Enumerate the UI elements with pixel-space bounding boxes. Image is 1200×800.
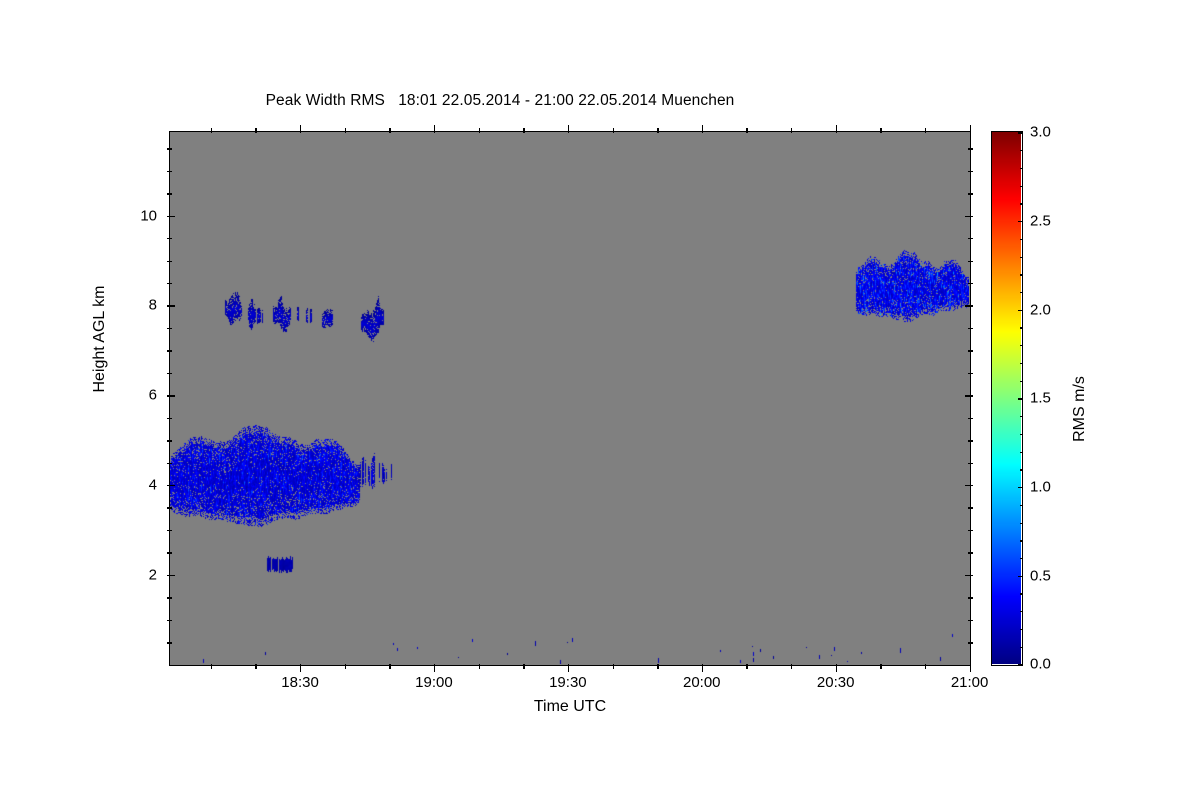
y-tick-right xyxy=(968,328,973,329)
x-tick-label: 20:30 xyxy=(817,674,855,691)
x-tick xyxy=(657,664,658,669)
x-tick xyxy=(613,664,614,669)
plot-axes-area xyxy=(169,131,971,666)
y-tick-right xyxy=(965,485,973,486)
y-tick xyxy=(167,171,172,172)
y-tick-right xyxy=(968,238,973,239)
y-tick-right xyxy=(968,440,973,441)
colorbar-label: RMS m/s xyxy=(1071,309,1089,509)
x-tick-top xyxy=(880,128,881,133)
x-tick-top xyxy=(925,128,926,133)
colorbar-minor-tick xyxy=(1020,239,1023,240)
y-tick xyxy=(167,395,175,396)
x-tick xyxy=(389,664,390,669)
colorbar-minor-tick xyxy=(1020,505,1023,506)
colorbar-tick-label: 0.0 xyxy=(1030,656,1051,673)
x-tick-top xyxy=(568,125,569,133)
x-tick-top xyxy=(255,128,256,133)
y-tick-right xyxy=(968,148,973,149)
x-tick xyxy=(211,664,212,669)
colorbar-minor-tick xyxy=(1020,257,1023,258)
y-tick xyxy=(167,283,172,284)
x-tick-top xyxy=(211,128,212,133)
colorbar-minor-tick xyxy=(1020,292,1023,293)
colorbar-minor-tick xyxy=(1020,150,1023,151)
y-tick xyxy=(167,373,172,374)
x-tick xyxy=(568,664,569,672)
colorbar-minor-tick xyxy=(1020,647,1023,648)
colorbar-tick xyxy=(1018,132,1023,133)
y-tick-label: 4 xyxy=(123,477,157,494)
x-tick-top xyxy=(300,125,301,133)
x-tick-top xyxy=(657,128,658,133)
y-tick-right xyxy=(965,216,973,217)
x-tick-label: 19:00 xyxy=(415,674,453,691)
y-tick-right xyxy=(965,575,973,576)
y-tick-right xyxy=(968,530,973,531)
colorbar-minor-tick xyxy=(1020,203,1023,204)
y-tick xyxy=(167,575,175,576)
colorbar-tick-label: 0.5 xyxy=(1030,567,1051,584)
y-tick xyxy=(167,642,172,643)
y-tick-right xyxy=(968,507,973,508)
colorbar-minor-tick xyxy=(1020,327,1023,328)
x-tick-top xyxy=(791,128,792,133)
x-axis-label: Time UTC xyxy=(169,698,971,716)
y-tick xyxy=(167,440,172,441)
x-tick xyxy=(479,664,480,669)
colorbar-gradient xyxy=(992,132,1021,664)
y-tick xyxy=(167,418,172,419)
y-tick-right xyxy=(968,171,973,172)
x-tick-top xyxy=(746,128,747,133)
y-tick xyxy=(167,238,172,239)
x-tick-label: 20:00 xyxy=(683,674,721,691)
colorbar-tick xyxy=(1018,310,1023,311)
y-tick xyxy=(167,193,172,194)
x-tick xyxy=(880,664,881,669)
x-tick-top xyxy=(345,128,346,133)
y-tick xyxy=(167,620,172,621)
y-tick xyxy=(167,597,172,598)
colorbar-tick xyxy=(1018,576,1023,577)
y-tick-label: 8 xyxy=(123,297,157,314)
y-tick xyxy=(167,552,172,553)
lidar-heatmap-data xyxy=(170,132,969,664)
y-tick-right xyxy=(968,283,973,284)
colorbar-minor-tick xyxy=(1020,452,1023,453)
colorbar-tick xyxy=(1018,664,1023,665)
colorbar-minor-tick xyxy=(1020,345,1023,346)
colorbar-tick-label: 1.0 xyxy=(1030,479,1051,496)
colorbar-minor-tick xyxy=(1020,593,1023,594)
y-tick-right xyxy=(968,642,973,643)
x-tick-top xyxy=(836,125,837,133)
colorbar-tick-label: 2.0 xyxy=(1030,301,1051,318)
x-tick xyxy=(523,664,524,669)
y-tick-right xyxy=(965,305,973,306)
y-tick xyxy=(167,463,172,464)
figure-canvas: Peak Width RMS 18:01 22.05.2014 - 21:00 … xyxy=(0,0,1200,800)
y-tick-right xyxy=(968,620,973,621)
y-tick-right xyxy=(968,597,973,598)
x-tick xyxy=(970,664,971,672)
y-tick-right xyxy=(968,350,973,351)
y-tick xyxy=(167,328,172,329)
colorbar-tick-label: 3.0 xyxy=(1030,124,1051,141)
y-tick xyxy=(167,216,175,217)
y-tick-right xyxy=(968,552,973,553)
x-tick xyxy=(836,664,837,672)
y-tick-right xyxy=(968,418,973,419)
x-tick-top xyxy=(479,128,480,133)
x-tick-label: 18:30 xyxy=(281,674,319,691)
x-tick xyxy=(345,664,346,669)
colorbar-tick xyxy=(1018,487,1023,488)
y-tick xyxy=(167,261,172,262)
x-tick-top xyxy=(702,125,703,133)
y-tick-right xyxy=(968,373,973,374)
colorbar-minor-tick xyxy=(1020,558,1023,559)
x-tick-top xyxy=(613,128,614,133)
colorbar-minor-tick xyxy=(1020,416,1023,417)
x-tick xyxy=(300,664,301,672)
y-tick-right xyxy=(968,463,973,464)
y-tick-label: 2 xyxy=(123,566,157,583)
y-tick-right xyxy=(968,261,973,262)
colorbar-minor-tick xyxy=(1020,168,1023,169)
colorbar-minor-tick xyxy=(1020,523,1023,524)
x-tick-top xyxy=(434,125,435,133)
y-tick-label: 6 xyxy=(123,387,157,404)
y-tick xyxy=(167,148,172,149)
colorbar-tick-label: 1.5 xyxy=(1030,390,1051,407)
colorbar-minor-tick xyxy=(1020,381,1023,382)
y-tick xyxy=(167,530,172,531)
x-tick xyxy=(791,664,792,669)
x-tick-label: 21:00 xyxy=(951,674,989,691)
x-tick-top xyxy=(389,128,390,133)
x-tick xyxy=(255,664,256,669)
x-tick xyxy=(925,664,926,669)
x-tick xyxy=(702,664,703,672)
y-tick-label: 10 xyxy=(123,207,157,224)
plot-title: Peak Width RMS 18:01 22.05.2014 - 21:00 … xyxy=(0,92,1000,110)
colorbar-minor-tick xyxy=(1020,540,1023,541)
colorbar-tick xyxy=(1018,398,1023,399)
colorbar-minor-tick xyxy=(1020,274,1023,275)
colorbar-tick xyxy=(1018,221,1023,222)
colorbar-minor-tick xyxy=(1020,629,1023,630)
colorbar-minor-tick xyxy=(1020,434,1023,435)
y-tick xyxy=(167,507,172,508)
x-tick-top xyxy=(523,128,524,133)
y-tick-right xyxy=(965,395,973,396)
colorbar-minor-tick xyxy=(1020,469,1023,470)
colorbar-minor-tick xyxy=(1020,611,1023,612)
colorbar-tick-label: 2.5 xyxy=(1030,213,1051,230)
colorbar-minor-tick xyxy=(1020,363,1023,364)
x-tick-label: 19:30 xyxy=(549,674,587,691)
y-tick xyxy=(167,485,175,486)
y-tick xyxy=(167,305,175,306)
y-tick-right xyxy=(968,193,973,194)
x-tick xyxy=(434,664,435,672)
y-axis-label: Height AGL km xyxy=(91,209,109,469)
x-tick-top xyxy=(970,125,971,133)
y-tick xyxy=(167,350,172,351)
x-tick xyxy=(746,664,747,669)
colorbar-minor-tick xyxy=(1020,186,1023,187)
